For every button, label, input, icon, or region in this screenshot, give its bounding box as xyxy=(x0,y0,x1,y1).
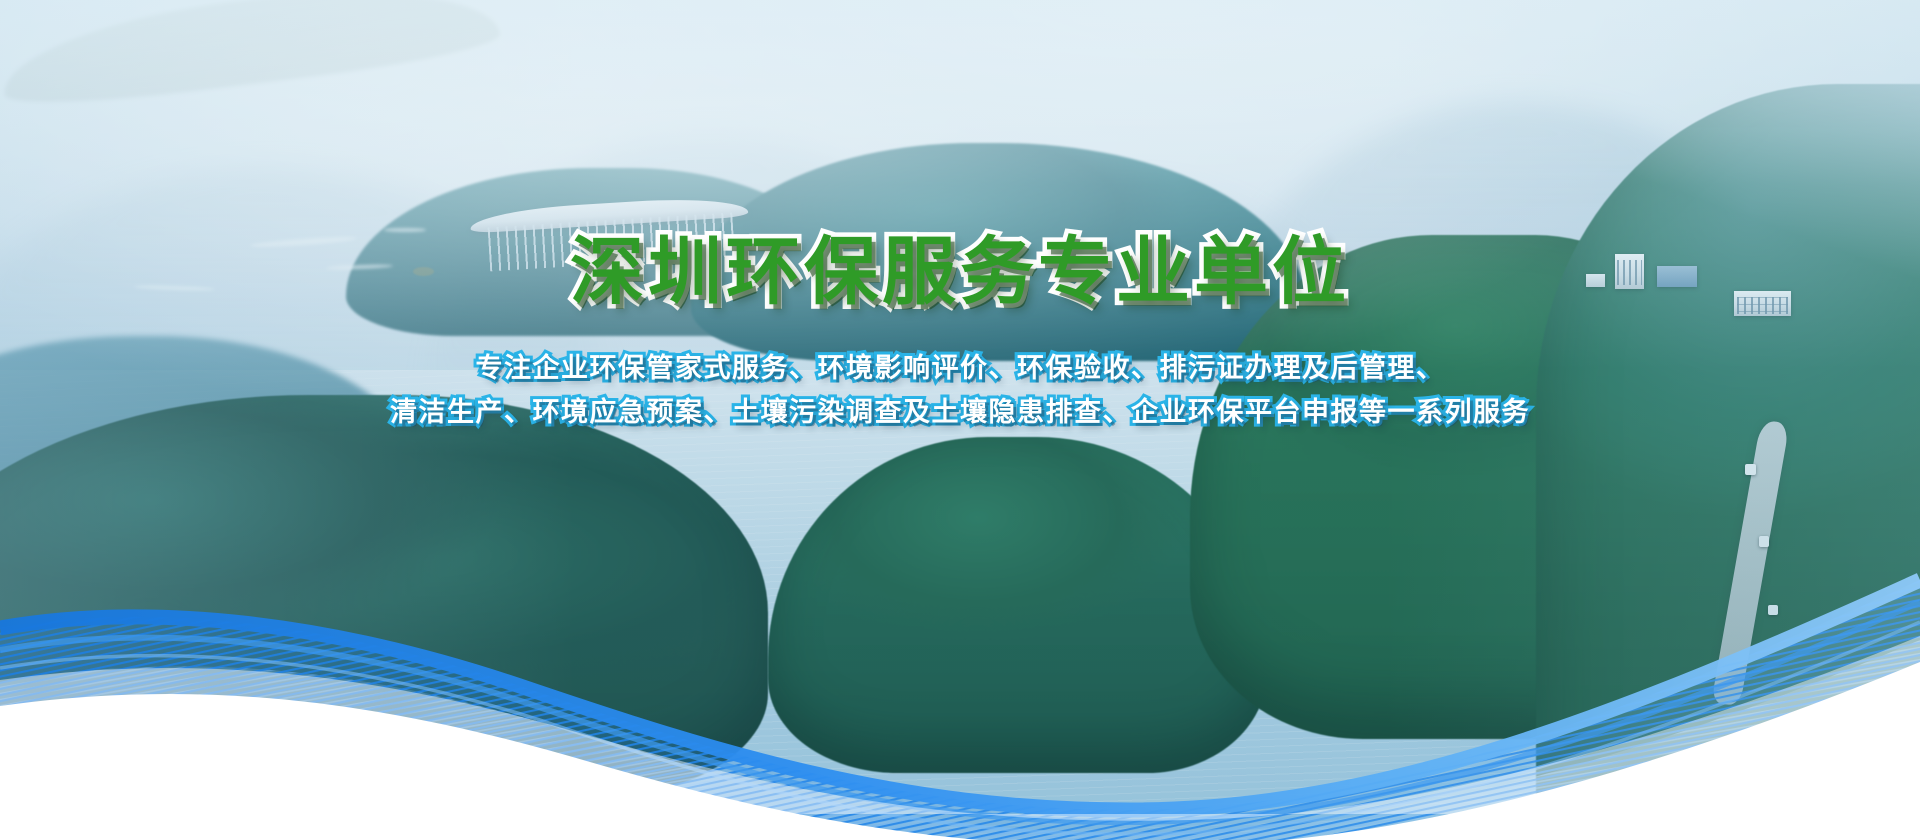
hillside-building-2 xyxy=(1657,266,1697,287)
bottom-wave-decoration xyxy=(0,510,1920,840)
hero-banner: 深圳环保服务专业单位 专注企业环保管家式服务、环境影响评价、环保验收、排污证办理… xyxy=(0,0,1920,840)
hillside-building-3 xyxy=(1734,291,1792,316)
hillside-building-1 xyxy=(1615,254,1645,289)
road-car-1 xyxy=(1745,464,1756,476)
hillside-building-4 xyxy=(1586,274,1605,287)
